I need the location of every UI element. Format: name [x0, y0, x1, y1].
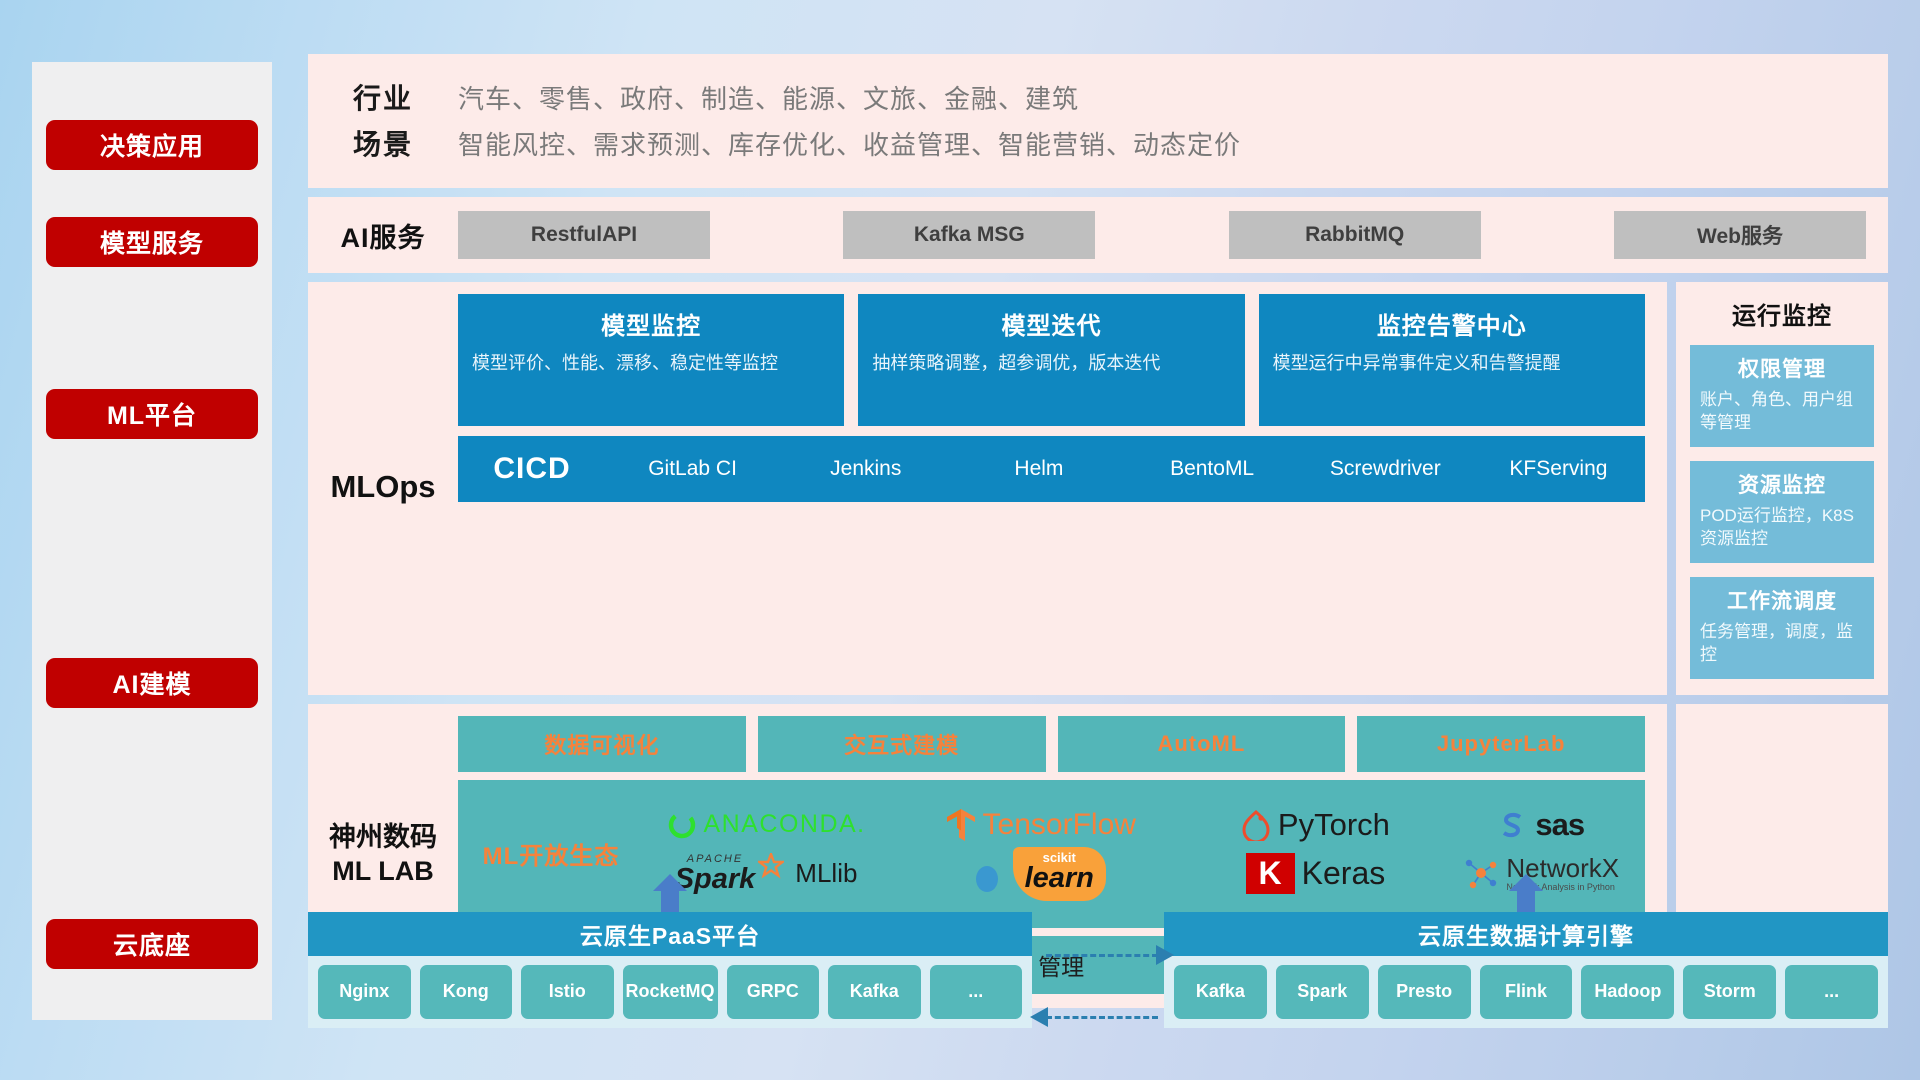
cloud-chip-istio[interactable]: Istio	[521, 965, 614, 1019]
cloud-data-engine-title: 云原生数据计算引擎	[1164, 912, 1888, 956]
ai-service-label: AI服务	[308, 216, 458, 255]
sas-icon	[1498, 810, 1528, 840]
monitor-card-permission[interactable]: 权限管理 账户、角色、用户组等管理	[1690, 345, 1874, 447]
cicd-bar: CICD GitLab CI Jenkins Helm BentoML Scre…	[458, 436, 1645, 502]
ml-tool-interactive-modeling[interactable]: 交互式建模	[758, 716, 1046, 772]
industry-row: 行业 汽车、零售、政府、制造、能源、文旅、金融、建筑	[308, 74, 1888, 120]
mlops-card-desc: 模型评价、性能、漂移、稳定性等监控	[472, 351, 830, 376]
arrow-head-left-icon	[1030, 1007, 1048, 1027]
scenario-label: 场景	[308, 123, 458, 163]
scenario-row: 场景 智能风控、需求预测、库存优化、收益管理、智能营销、动态定价	[308, 120, 1888, 166]
cloud-paas-chip-group: Nginx Kong Istio RocketMQ GRPC Kafka ...	[308, 956, 1032, 1028]
anaconda-logo: ANACONDA.	[644, 810, 888, 840]
dashed-line-rightward	[1046, 954, 1158, 957]
cicd-item-group: GitLab CI Jenkins Helm BentoML Screwdriv…	[606, 457, 1645, 481]
tensorflow-wordmark: TensorFlow	[983, 808, 1136, 842]
monitor-card-title: 工作流调度	[1700, 585, 1864, 615]
pytorch-logo: PyTorch	[1193, 807, 1437, 843]
data-chip-flink[interactable]: Flink	[1480, 965, 1573, 1019]
tensorflow-logo: TensorFlow	[888, 808, 1193, 842]
monitor-card-title: 权限管理	[1700, 353, 1864, 383]
ai-service-chip-restfulapi[interactable]: RestfulAPI	[458, 211, 710, 259]
cloud-chip-nginx[interactable]: Nginx	[318, 965, 411, 1019]
keras-wordmark: Keras	[1302, 855, 1386, 892]
cicd-item-jenkins[interactable]: Jenkins	[779, 457, 952, 481]
cloud-chip-grpc[interactable]: GRPC	[727, 965, 820, 1019]
sidebar-item-model-service[interactable]: 模型服务	[46, 217, 258, 267]
cloud-data-engine-block: 云原生数据计算引擎 Kafka Spark Presto Flink Hadoo…	[1164, 912, 1888, 1028]
sas-logo: sas	[1437, 807, 1645, 843]
anaconda-wordmark: ANACONDA.	[704, 810, 866, 839]
ml-platform-band: MLOps 模型监控 模型评价、性能、漂移、稳定性等监控 模型迭代 抽样策略调整…	[308, 282, 1888, 695]
arrow-head-right-icon	[1156, 945, 1174, 965]
mlops-card-alert-center[interactable]: 监控告警中心 模型运行中异常事件定义和告警提醒	[1259, 294, 1645, 426]
mlops-label: MLOps	[308, 294, 458, 681]
ai-service-chip-kafka-msg[interactable]: Kafka MSG	[843, 211, 1095, 259]
sidebar-item-ai-modeling[interactable]: AI建模	[46, 658, 258, 708]
monitor-card-resource[interactable]: 资源监控 POD运行监控，K8S资源监控	[1690, 461, 1874, 563]
cloud-paas-title: 云原生PaaS平台	[308, 912, 1032, 956]
monitor-card-desc: POD运行监控，K8S资源监控	[1700, 505, 1864, 551]
mlops-card-model-monitoring[interactable]: 模型监控 模型评价、性能、漂移、稳定性等监控	[458, 294, 844, 426]
mlops-card-title: 模型监控	[472, 306, 830, 341]
data-chip-hadoop[interactable]: Hadoop	[1581, 965, 1674, 1019]
cloud-chip-rocketmq[interactable]: RocketMQ	[623, 965, 718, 1019]
ecosystem-logo-row-1: ANACONDA. TensorFlow	[644, 807, 1645, 843]
industry-values: 汽车、零售、政府、制造、能源、文旅、金融、建筑	[458, 79, 1079, 116]
sidebar-item-decision-app[interactable]: 决策应用	[46, 120, 258, 170]
cloud-chip-kong[interactable]: Kong	[420, 965, 513, 1019]
data-chip-spark[interactable]: Spark	[1276, 965, 1369, 1019]
industry-label: 行业	[308, 77, 458, 117]
ml-ecosystem-label: ML开放生态	[458, 836, 644, 871]
sidebar-item-ml-platform[interactable]: ML平台	[46, 389, 258, 439]
architecture-main: 行业 汽车、零售、政府、制造、能源、文旅、金融、建筑 场景 智能风控、需求预测、…	[308, 54, 1888, 1008]
mlops-card-title: 监控告警中心	[1273, 306, 1631, 341]
sidebar-item-cloud-base[interactable]: 云底座	[46, 919, 258, 969]
tensorflow-icon	[946, 808, 976, 842]
data-chip-presto[interactable]: Presto	[1378, 965, 1471, 1019]
ai-service-band: AI服务 RestfulAPI Kafka MSG RabbitMQ Web服务	[308, 197, 1888, 273]
scenario-values: 智能风控、需求预测、库存优化、收益管理、智能营销、动态定价	[458, 125, 1241, 162]
ml-tool-automl[interactable]: AutoML	[1058, 716, 1346, 772]
cicd-label: CICD	[458, 452, 606, 486]
cicd-item-bentoml[interactable]: BentoML	[1126, 457, 1299, 481]
runtime-monitor-panel: 运行监控 权限管理 账户、角色、用户组等管理 资源监控 POD运行监控，K8S资…	[1676, 282, 1888, 695]
mlops-card-desc: 模型运行中异常事件定义和告警提醒	[1273, 351, 1631, 376]
mlops-card-title: 模型迭代	[872, 306, 1230, 341]
ml-lab-label-line2: ML LAB	[332, 855, 434, 889]
cloud-chip-more[interactable]: ...	[930, 965, 1023, 1019]
monitor-card-desc: 账户、角色、用户组等管理	[1700, 389, 1864, 435]
stack-layer-sidebar: 决策应用 模型服务 ML平台 AI建模 云底座	[32, 62, 272, 1020]
cicd-item-kfserving[interactable]: KFServing	[1472, 457, 1645, 481]
networkx-icon	[1463, 857, 1499, 891]
mlops-card-model-iteration[interactable]: 模型迭代 抽样策略调整，超参调优，版本迭代	[858, 294, 1244, 426]
runtime-monitor-title: 运行监控	[1690, 296, 1874, 331]
monitor-card-desc: 任务管理，调度，监控	[1700, 621, 1864, 667]
ai-service-chip-web-service[interactable]: Web服务	[1614, 211, 1866, 259]
pytorch-icon	[1241, 809, 1271, 841]
cloud-chip-kafka[interactable]: Kafka	[828, 965, 921, 1019]
cloud-data-engine-chip-group: Kafka Spark Presto Flink Hadoop Storm ..…	[1164, 956, 1888, 1028]
bidirectional-arrows	[1030, 944, 1190, 1034]
mlops-body: 模型监控 模型评价、性能、漂移、稳定性等监控 模型迭代 抽样策略调整，超参调优，…	[458, 294, 1667, 681]
ai-service-chip-rabbitmq[interactable]: RabbitMQ	[1229, 211, 1481, 259]
ml-tool-group: 数据可视化 交互式建模 AutoML JupyterLab	[458, 716, 1645, 772]
spark-star-icon	[758, 853, 784, 879]
cicd-item-helm[interactable]: Helm	[952, 457, 1125, 481]
pytorch-wordmark: PyTorch	[1278, 807, 1390, 843]
ml-ecosystem-logos: ANACONDA. TensorFlow	[644, 807, 1645, 901]
mlops-section: MLOps 模型监控 模型评价、性能、漂移、稳定性等监控 模型迭代 抽样策略调整…	[308, 282, 1667, 695]
dashed-line-leftward	[1046, 1016, 1158, 1019]
ml-tool-jupyterlab[interactable]: JupyterLab	[1357, 716, 1645, 772]
data-chip-more[interactable]: ...	[1785, 965, 1878, 1019]
ml-lab-label-line1: 神州数码	[329, 821, 437, 855]
cloud-paas-block: 云原生PaaS平台 Nginx Kong Istio RocketMQ GRPC…	[308, 912, 1032, 1028]
cicd-item-screwdriver[interactable]: Screwdriver	[1299, 457, 1472, 481]
monitor-card-title: 资源监控	[1700, 469, 1864, 499]
data-chip-storm[interactable]: Storm	[1683, 965, 1776, 1019]
sas-wordmark: sas	[1535, 807, 1584, 843]
cicd-item-gitlab-ci[interactable]: GitLab CI	[606, 457, 779, 481]
mlops-card-group: 模型监控 模型评价、性能、漂移、稳定性等监控 模型迭代 抽样策略调整，超参调优，…	[458, 294, 1645, 426]
ai-service-chip-group: RestfulAPI Kafka MSG RabbitMQ Web服务	[458, 211, 1888, 259]
ml-tool-data-visualization[interactable]: 数据可视化	[458, 716, 746, 772]
monitor-card-workflow[interactable]: 工作流调度 任务管理，调度，监控	[1690, 577, 1874, 679]
industry-scenario-band: 行业 汽车、零售、政府、制造、能源、文旅、金融、建筑 场景 智能风控、需求预测、…	[308, 54, 1888, 188]
mlops-card-desc: 抽样策略调整，超参调优，版本迭代	[872, 351, 1230, 376]
anaconda-icon	[667, 810, 697, 840]
